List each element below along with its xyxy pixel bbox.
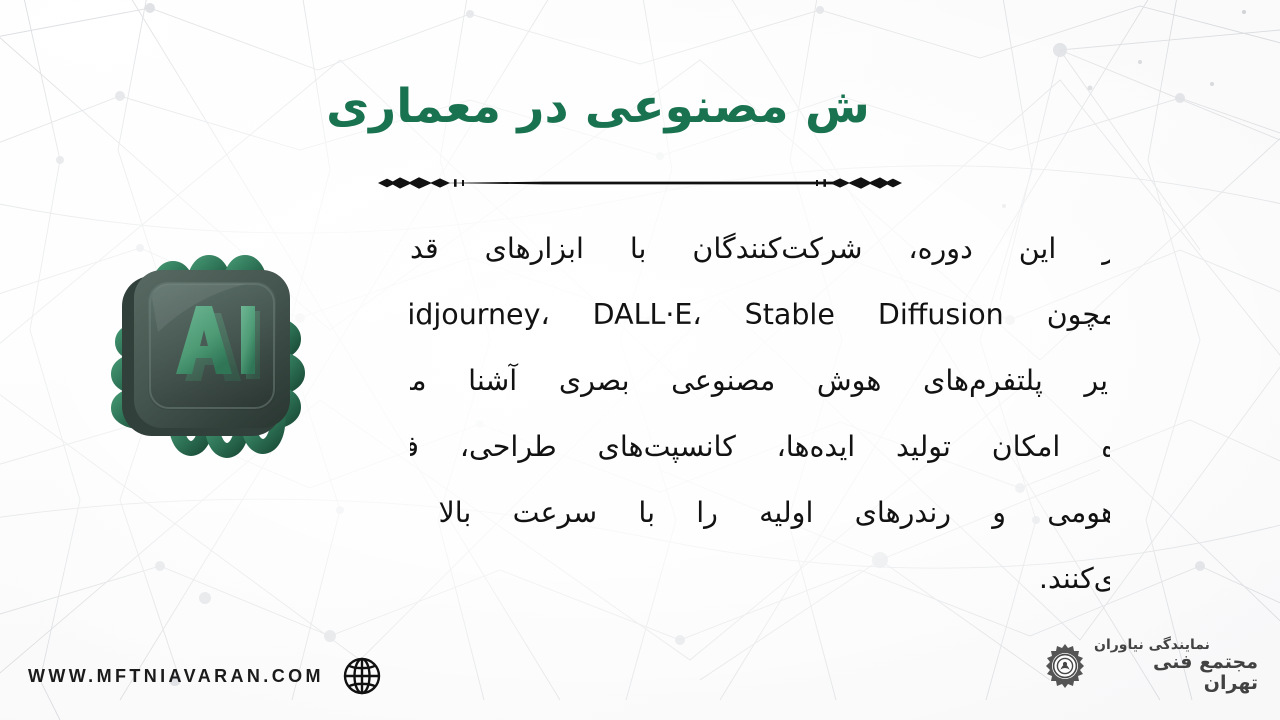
gear-emblem-icon [1042, 643, 1088, 689]
body-line: ایر پلتفرم‌های هوش مصنوعی بصری آشنا می‌ش… [410, 348, 1110, 414]
slide-root: ش مصنوعی در معماری [0, 0, 1280, 720]
body-line: ه امکان تولید ایده‌ها، کانسپت‌های طراحی،… [410, 414, 1110, 480]
website-url-text: WWW.MFTNIAVARAN.COM [28, 666, 324, 687]
brand-name-label: مجتمع فنی تهران [1094, 652, 1258, 694]
title-container: ش مصنوعی در معماری [0, 78, 1280, 137]
body-text-clip: ر این دوره، شرکت‌کنندگان با ابزارهای قدر… [410, 216, 1110, 608]
body-line: مچون Midjourney، DALL·E، Stable Diffusio… [410, 282, 1110, 348]
ornamental-divider-icon [378, 170, 902, 196]
globe-icon [342, 656, 382, 696]
body-line: ر این دوره، شرکت‌کنندگان با ابزارهای قدر… [410, 216, 1110, 282]
ai-chip-icon [96, 236, 318, 474]
page-title: ش مصنوعی در معماری [326, 78, 870, 137]
body-line: ی‌کنند. [410, 546, 1110, 608]
body-paragraph: ر این دوره، شرکت‌کنندگان با ابزارهای قدر… [410, 216, 1110, 608]
brand-text-block: نمایندگی نیاوران مجتمع فنی تهران [1094, 638, 1258, 694]
brand-logo: نمایندگی نیاوران مجتمع فنی تهران [1042, 624, 1258, 708]
body-line: هومی و رندرهای اولیه را با سرعت بالا فرا… [410, 480, 1110, 546]
footer-website[interactable]: WWW.MFTNIAVARAN.COM [28, 656, 382, 696]
